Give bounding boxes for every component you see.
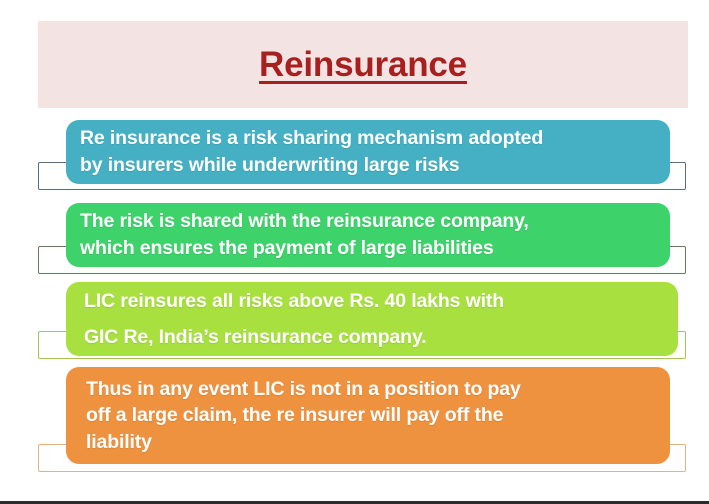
title-band: Reinsurance bbox=[38, 21, 688, 108]
statement-2-line-2: which ensures the payment of large liabi… bbox=[80, 235, 670, 262]
statement-2-line-1: The risk is shared with the reinsurance … bbox=[80, 208, 670, 235]
frame-left-edge bbox=[0, 0, 2, 504]
statement-3-box[interactable]: LIC reinsures all risks above Rs. 40 lak… bbox=[66, 282, 678, 356]
statement-4-box[interactable]: Thus in any event LIC is not in a positi… bbox=[66, 367, 670, 464]
slide-canvas: Reinsurance Re insurance is a risk shari… bbox=[0, 0, 709, 504]
statement-1-line-2: by insurers while underwriting large ris… bbox=[80, 152, 670, 179]
statement-3-line-1: LIC reinsures all risks above Rs. 40 lak… bbox=[84, 283, 678, 319]
statement-4-line-1: Thus in any event LIC is not in a positi… bbox=[86, 376, 670, 403]
statement-4-line-2: off a large claim, the re insurer will p… bbox=[86, 402, 670, 429]
statement-3-line-2: GIC Re, India’s reinsurance company. bbox=[84, 319, 678, 355]
statement-4-line-3: liability bbox=[86, 429, 670, 456]
statement-1-line-1: Re insurance is a risk sharing mechanism… bbox=[80, 125, 670, 152]
statement-2-box[interactable]: The risk is shared with the reinsurance … bbox=[66, 203, 670, 267]
page-title: Reinsurance bbox=[259, 45, 467, 85]
statement-1-box[interactable]: Re insurance is a risk sharing mechanism… bbox=[66, 120, 670, 184]
